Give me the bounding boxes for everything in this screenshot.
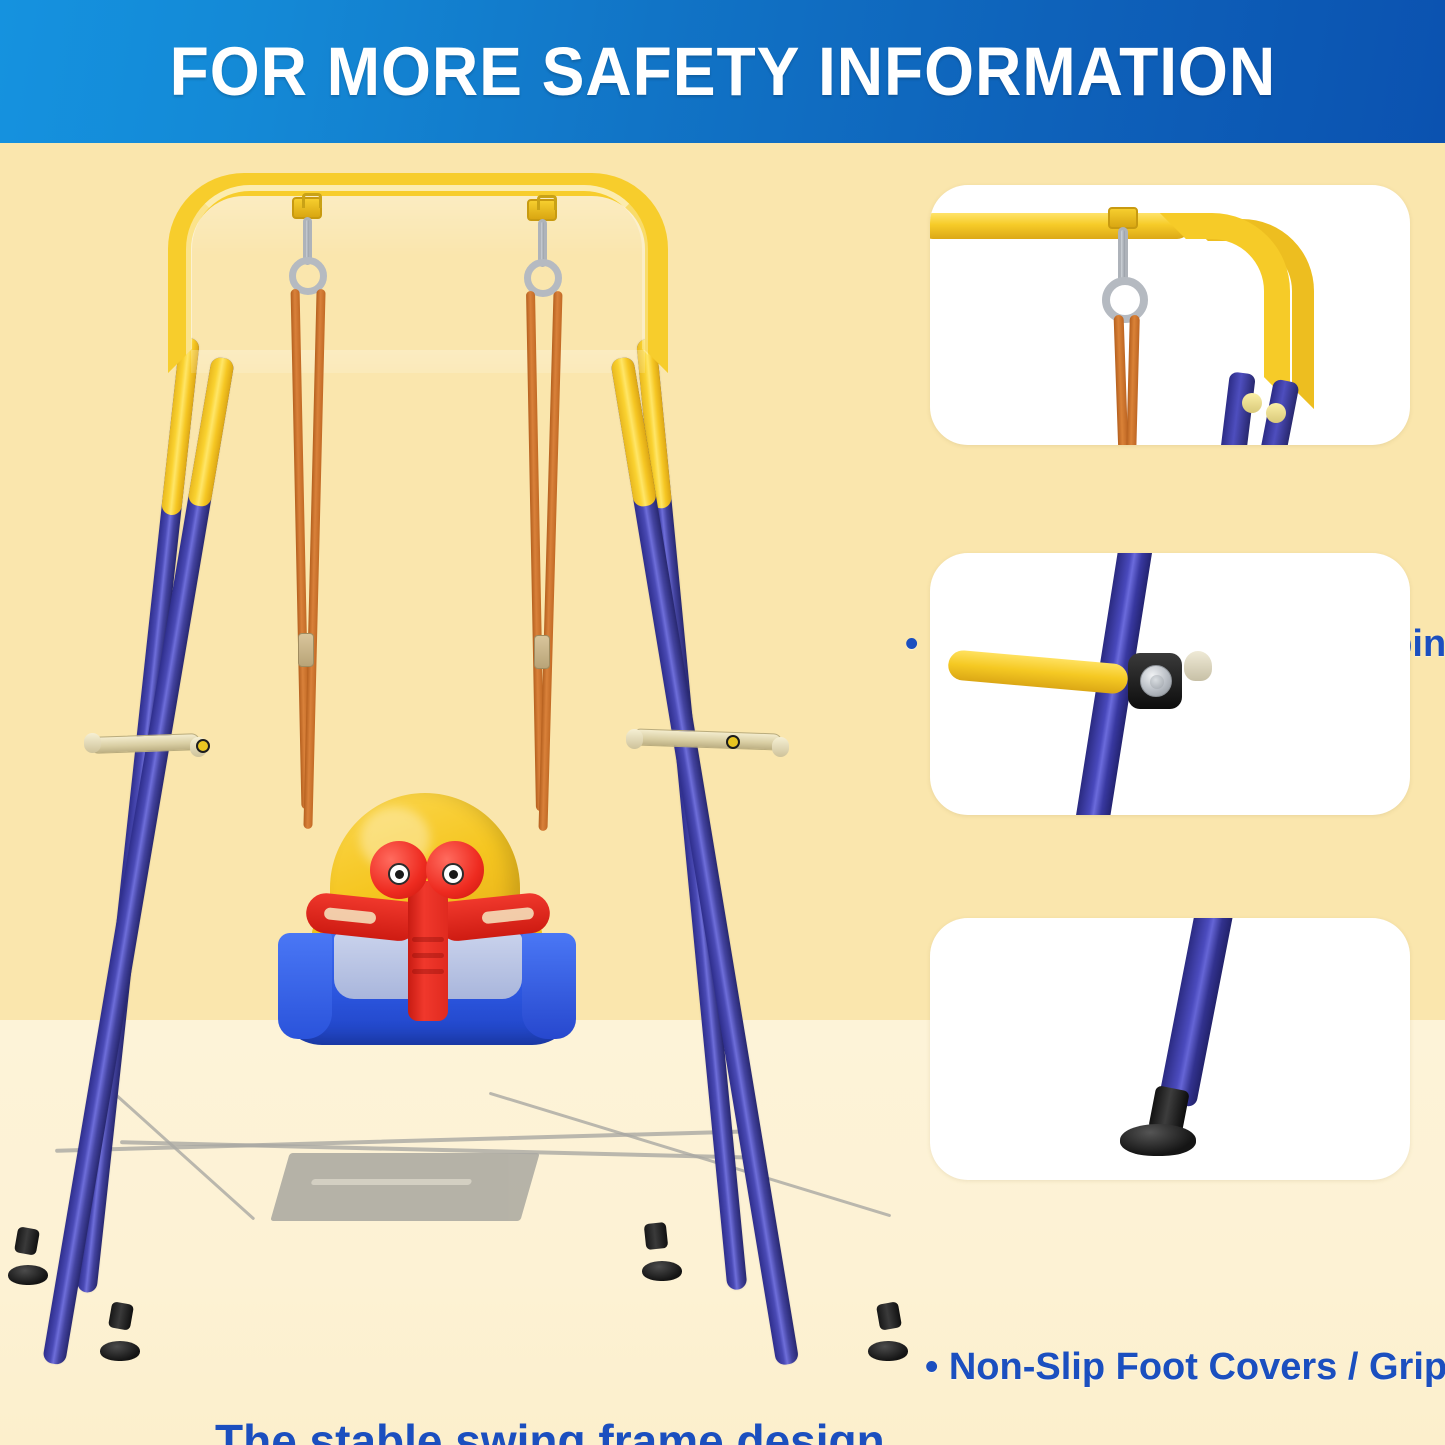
inset-hanger-clamp-icon <box>1108 207 1138 229</box>
frame-shadow-line <box>105 1084 256 1220</box>
foot-cover-back-right <box>642 1261 682 1281</box>
bottom-caption: The stable swing frame design ensures sa… <box>215 1413 915 1445</box>
inset-leg-knob <box>1266 403 1286 423</box>
inset-leg-knob <box>1242 393 1262 413</box>
swing-top-bar-highlight <box>186 185 648 355</box>
crossbar-right <box>632 728 783 750</box>
swing-leg-front-left <box>42 356 235 1366</box>
inset-pole-blue <box>1158 918 1235 1108</box>
main-product-image <box>0 143 930 1283</box>
crossbar-right-cap <box>626 729 643 749</box>
feature-inset-screw[interactable] <box>930 553 1410 815</box>
feature-inset-carabiners[interactable] <box>930 185 1410 445</box>
crossbar-left <box>90 733 201 754</box>
foot-neck <box>644 1222 669 1250</box>
infographic-page: FOR MORE SAFETY INFORMATION <box>0 0 1445 1445</box>
crab-body-segment <box>412 937 444 942</box>
inset-o-ring-icon <box>1102 277 1148 323</box>
seat-shadow <box>270 1153 539 1221</box>
crossbar-left-cap <box>84 733 101 753</box>
swing-leg-front-right <box>610 356 799 1366</box>
foot-neck <box>876 1301 902 1330</box>
crab-pupil-left <box>388 863 410 885</box>
crab-pupil-right <box>442 863 464 885</box>
inset-top-bar-corner <box>1160 213 1290 403</box>
rope-clip-right <box>534 635 550 669</box>
inset-carabiner-icon <box>1118 227 1128 283</box>
rope-clip-left <box>298 633 314 667</box>
header-banner: FOR MORE SAFETY INFORMATION <box>0 0 1445 143</box>
inset-foot-cover-icon <box>1120 1124 1196 1156</box>
crab-safety-bar <box>320 841 536 1021</box>
foot-cover-back-left <box>8 1265 48 1285</box>
crab-body-segment <box>412 953 444 958</box>
swing-seat <box>272 793 582 1043</box>
inset-bolt-cap <box>1184 651 1212 681</box>
page-title: FOR MORE SAFETY INFORMATION <box>169 32 1275 111</box>
hanger-clamp-icon <box>292 197 322 219</box>
crab-arm-slot <box>324 907 377 924</box>
crab-body <box>408 881 448 1021</box>
inset-top-bar <box>930 213 1190 239</box>
foot-cover-front-right <box>868 1341 908 1361</box>
crab-body-segment <box>412 969 444 974</box>
crossbar-right-cap <box>772 737 789 757</box>
crab-arm-left <box>304 891 420 942</box>
foot-neck <box>108 1301 134 1330</box>
caption-line-1: The stable swing frame design <box>215 1413 915 1445</box>
inset-screw-icon <box>1140 665 1172 697</box>
inset-rope <box>1126 315 1140 445</box>
crossbar-left-knob <box>196 739 210 753</box>
hanger-clamp-icon <box>527 199 557 221</box>
foot-neck <box>14 1226 40 1255</box>
crossbar-right-knob <box>726 735 740 749</box>
feature-inset-foot-covers[interactable] <box>930 918 1410 1180</box>
feature-label-foot-covers: • Non-Slip Foot Covers / Grips <box>925 1346 1445 1389</box>
foot-cover-front-left <box>100 1341 140 1361</box>
crab-arm-slot <box>481 907 534 924</box>
